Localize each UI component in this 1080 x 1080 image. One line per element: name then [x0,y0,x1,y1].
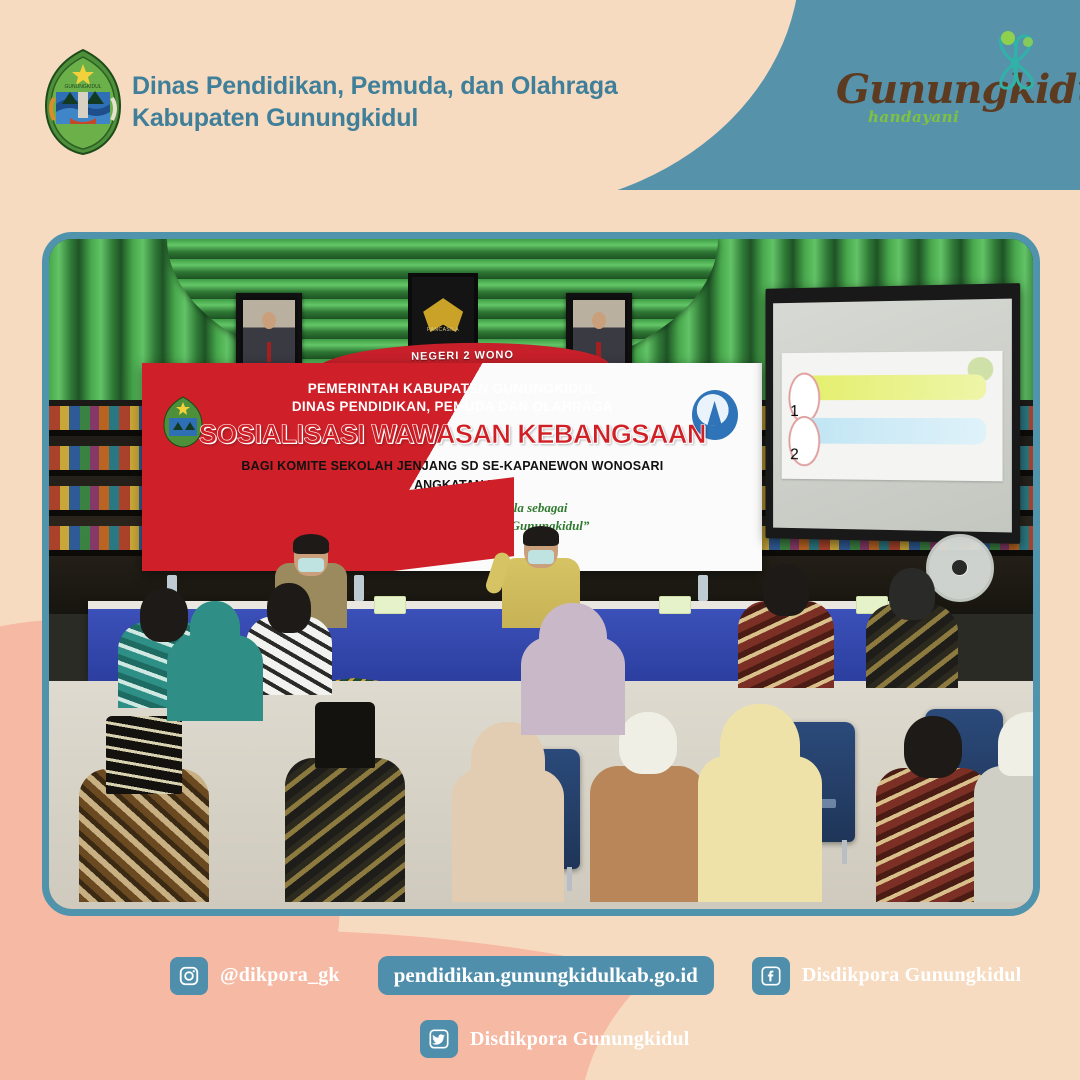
audience-member [79,712,209,902]
instagram-handle[interactable]: @dikpora_gk [220,964,340,987]
audience-member [590,712,706,902]
water-bottle [354,575,364,601]
event-photo: PANCASILA NEGERI 2 WONO PEMERINTAH KABUP… [49,239,1033,909]
brand-tagline: handayani [868,108,959,126]
website-url[interactable]: pendidikan.gunungkidulkab.go.id [378,956,714,995]
poster-header: GUNUNGKIDUL Dinas Pendidikan, Pemuda, da… [0,0,1080,200]
page-title: Dinas Pendidikan, Pemuda, dan Olahraga K… [132,70,732,134]
footer-row-twitter: Disdikpora Gunungkidul [420,1020,690,1058]
slide-bullet-1-bar [797,374,986,401]
audience-member [974,712,1033,902]
footer-row-primary: @dikpora_gk pendidikan.gunungkidulkab.go… [170,956,1021,995]
banner-quote-line1: “Tindakan Berdasarkan Pancasila sebagai [167,500,737,516]
audience-member [866,568,958,688]
audience-member [452,722,564,902]
event-banner: PEMERINTAH KABUPATEN GUNUNGKIDUL DINAS P… [142,363,762,571]
banner-line1: PEMERINTAH KABUPATEN GUNUNGKIDUL [167,381,737,396]
audience-member [698,704,822,902]
snack-box [659,596,691,614]
gunungkidul-brand-logo: Gunungkidul handayani [824,34,1054,144]
event-photo-card: PANCASILA NEGERI 2 WONO PEMERINTAH KABUP… [42,232,1040,916]
audience-member [876,716,990,902]
banner-line4: BAGI KOMITE SEKOLAH JENJANG SD SE-KAPANE… [167,459,737,473]
slide-bullet-2-bar [797,418,986,444]
facebook-icon[interactable] [752,957,790,995]
twitter-account-name[interactable]: Disdikpora Gunungkidul [470,1028,690,1051]
poster-canvas: GUNUNGKIDUL Dinas Pendidikan, Pemuda, da… [0,0,1080,1080]
banner-line2: DINAS PENDIDIKAN, PEMUDA DAN OLAHRAGA [167,399,737,414]
presentation-slide: 1 2 [782,350,1002,481]
poster-footer: @dikpora_gk pendidikan.gunungkidulkab.go… [0,930,1080,1080]
org-title-line1: Dinas Pendidikan, Pemuda, dan Olahraga [132,72,618,100]
twitter-icon[interactable] [420,1020,458,1058]
banner-text-block: PEMERINTAH KABUPATEN GUNUNGKIDUL DINAS P… [167,375,737,558]
audience-member [521,603,625,735]
audience-member [167,601,263,721]
svg-text:GUNUNGKIDUL: GUNUNGKIDUL [65,84,102,90]
banner-line5: ANGKATAN I [167,478,737,492]
banner-quote-line2: Karakter Budaya Warga Kabupaten Gunungki… [167,518,737,534]
slide-bullet-2-number: 2 [789,416,821,466]
instagram-icon[interactable] [170,957,208,995]
audience-member [738,564,834,688]
org-title-line2: Kabupaten Gunungkidul [132,102,732,134]
butterfly-flourish-icon [978,28,1048,94]
projection-surface: 1 2 [773,299,1012,533]
snack-box [374,596,406,614]
garuda-label: PANCASILA [412,327,474,333]
projector-screen: 1 2 [766,283,1021,543]
audience-member [285,702,405,902]
regency-crest-icon: GUNUNGKIDUL [40,48,126,156]
banner-title: SOSIALISASI WAWASAN KEBANGSAAN [167,419,737,450]
water-bottle [698,575,708,601]
facebook-page-name[interactable]: Disdikpora Gunungkidul [802,964,1022,987]
